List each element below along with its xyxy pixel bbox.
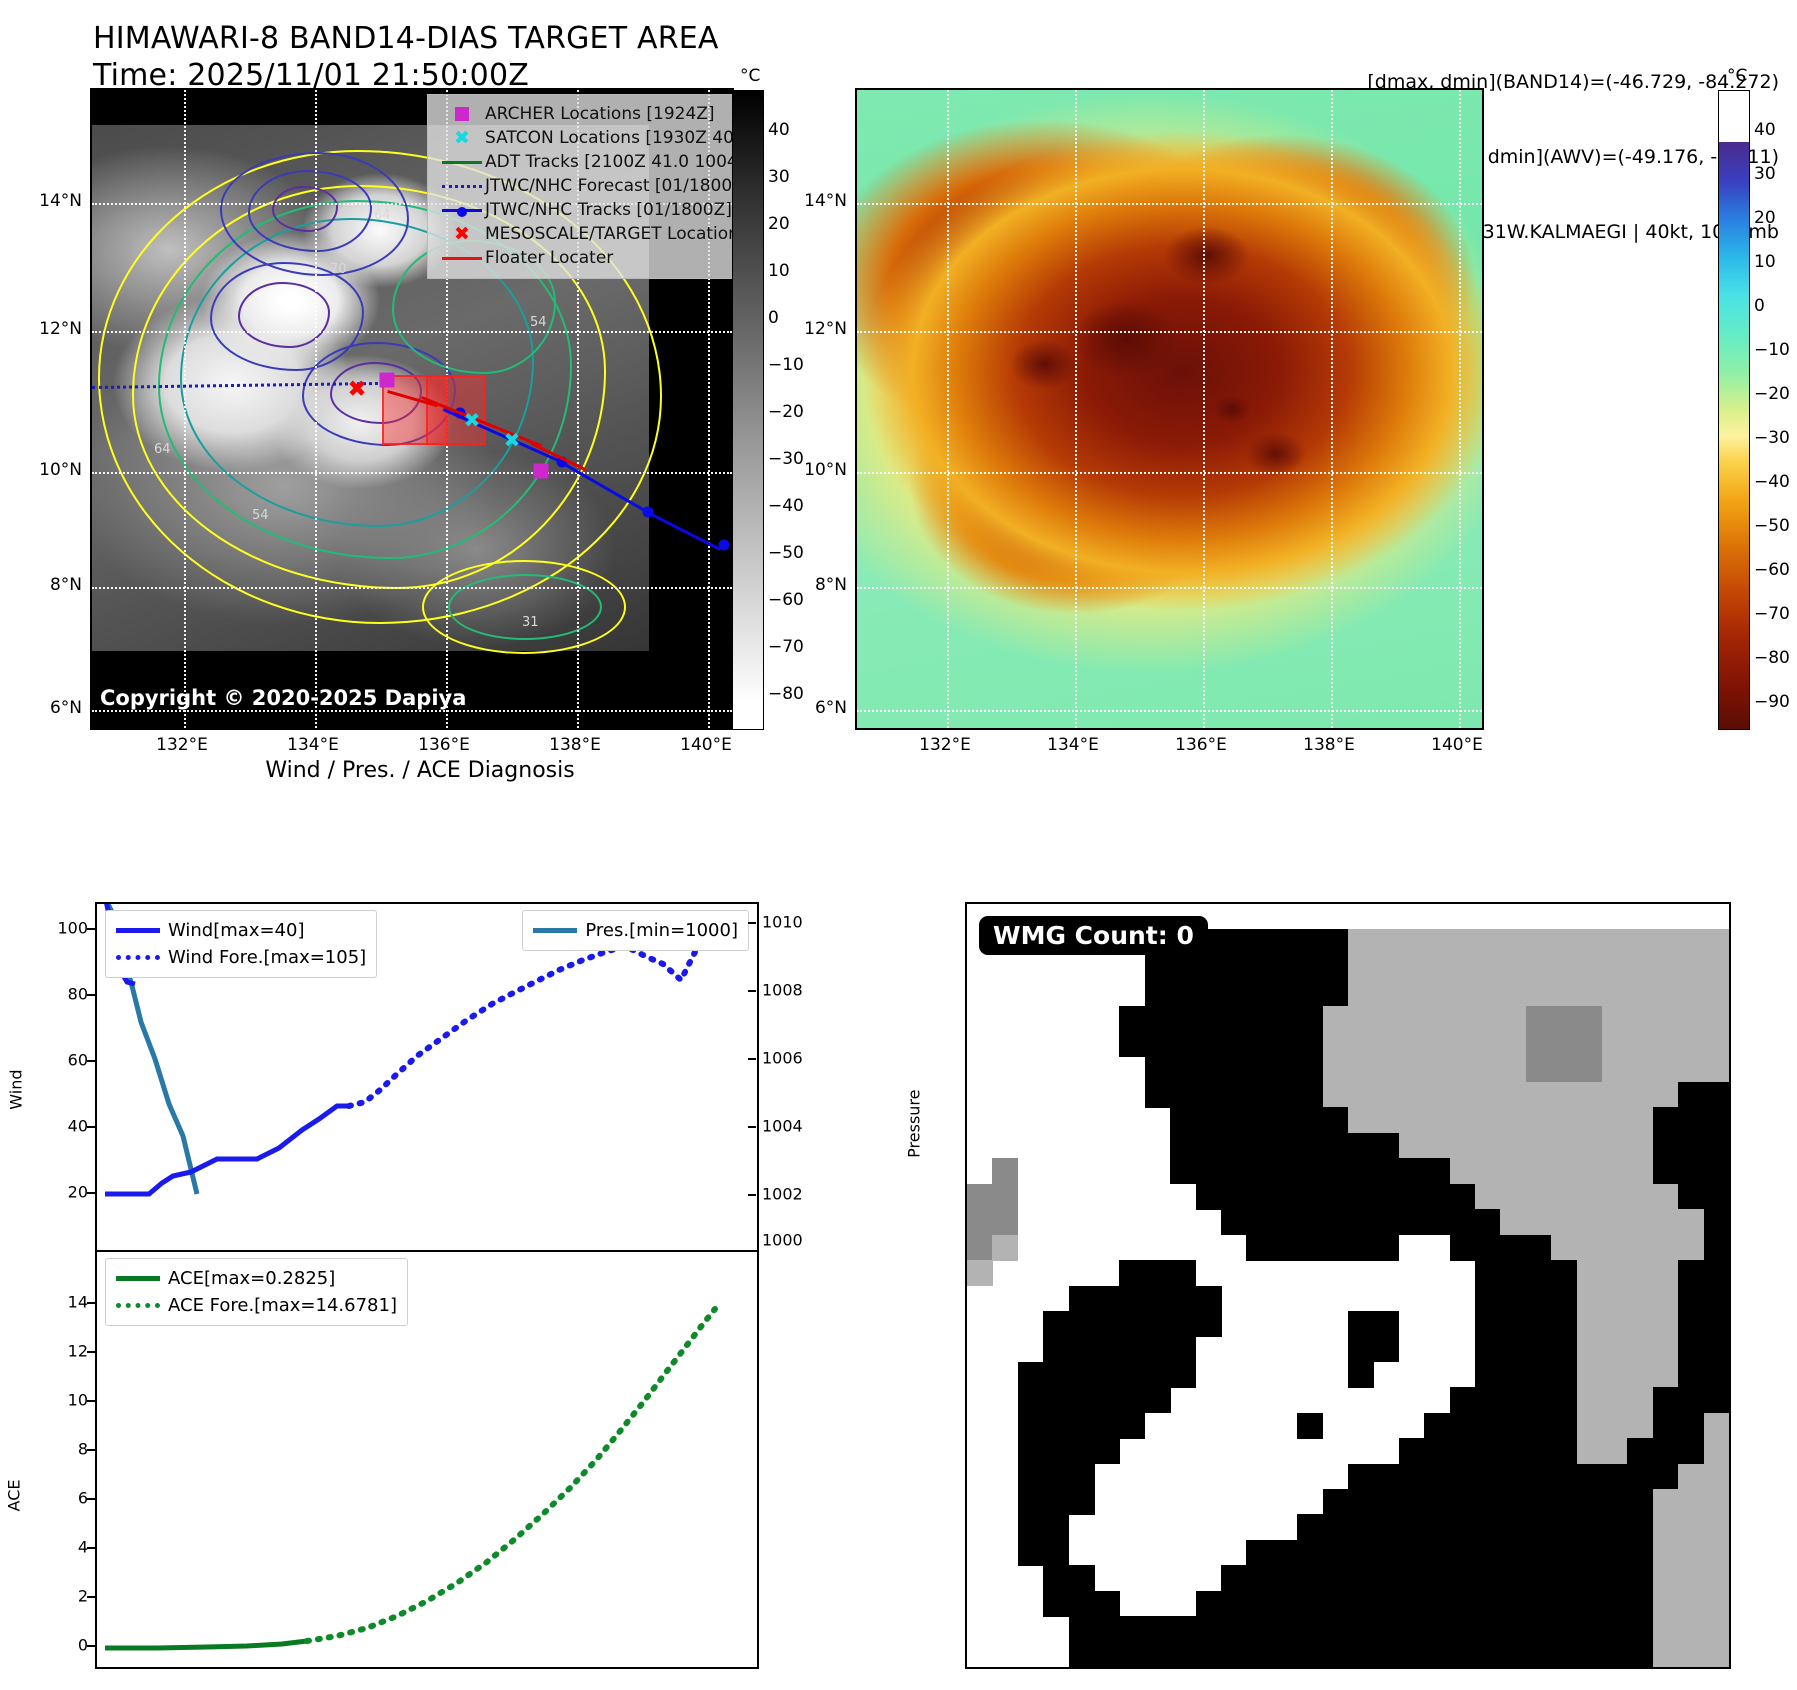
wmg-cell <box>1196 1286 1222 1312</box>
wmg-cell <box>1018 1514 1044 1540</box>
legend-label: Wind Fore.[max=105] <box>168 947 366 968</box>
wmg-cell <box>1704 1133 1730 1159</box>
lon-tick-label: 132°E <box>156 735 208 755</box>
wmg-cell <box>1678 1565 1704 1591</box>
wmg-cell <box>1373 1133 1399 1159</box>
wmg-cell <box>1450 1413 1476 1439</box>
wmg-cell <box>1653 1489 1679 1515</box>
wmg-cell <box>1450 1464 1476 1490</box>
wmg-cell <box>1246 1616 1272 1642</box>
wmg-cell <box>1551 1057 1577 1083</box>
wind-ytick: 60 <box>20 1051 88 1070</box>
wmg-cell <box>1145 1362 1171 1388</box>
dashboard-root: HIMAWARI-8 BAND14-DIAS TARGET AREATime: … <box>0 0 1797 1690</box>
wmg-cell <box>1475 1616 1501 1642</box>
wmg-cell <box>1500 929 1526 955</box>
wmg-cell <box>1399 1158 1425 1184</box>
wmg-cell <box>1373 1209 1399 1235</box>
wmg-cell <box>1043 1311 1069 1337</box>
wmg-cell <box>1272 1057 1298 1083</box>
wmg-cell <box>1424 980 1450 1006</box>
wmg-cell <box>1145 1006 1171 1032</box>
colorbar-tick: −50 <box>1754 516 1790 536</box>
wmg-cell <box>1551 1184 1577 1210</box>
wmg-cell <box>1094 1616 1120 1642</box>
wmg-cell <box>1170 1031 1196 1057</box>
wmg-cell <box>1373 1616 1399 1642</box>
wmg-cell <box>1602 1514 1628 1540</box>
wmg-cell <box>1069 1591 1095 1617</box>
wmg-cell <box>1221 1082 1247 1108</box>
wmg-cell <box>1018 1464 1044 1490</box>
wmg-cell <box>1170 1616 1196 1642</box>
wmg-cell <box>1602 1158 1628 1184</box>
wmg-cell <box>1043 1565 1069 1591</box>
contour-label: 64 <box>374 208 391 223</box>
wmg-cell <box>1246 929 1272 955</box>
wmg-cell <box>1627 1387 1653 1413</box>
wmg-cell <box>1119 1413 1145 1439</box>
wmg-cell <box>1627 1107 1653 1133</box>
tick-mark <box>87 1302 95 1304</box>
wmg-cell <box>1577 929 1603 955</box>
ir-band14-map[interactable]: 64 70 64 54 31 54 <box>90 88 734 730</box>
wmg-cell <box>1399 1514 1425 1540</box>
wmg-cell <box>1551 980 1577 1006</box>
ace-ytick: 12 <box>20 1342 88 1361</box>
wmg-cell <box>1704 1413 1730 1439</box>
tick-mark <box>87 928 95 930</box>
wmg-cell <box>1094 1413 1120 1439</box>
colorbar-tick: 30 <box>768 167 790 187</box>
wmg-cell <box>1018 1362 1044 1388</box>
wmg-cell <box>1678 1286 1704 1312</box>
wmg-cell <box>1500 1387 1526 1413</box>
wmg-mask-panel[interactable]: WMG Count: 0 <box>965 902 1731 1669</box>
wmg-cell <box>1704 1387 1730 1413</box>
wmg-cell <box>1602 1591 1628 1617</box>
wmg-cell <box>1069 1362 1095 1388</box>
wmg-cell <box>1551 929 1577 955</box>
wmg-cell <box>1602 1565 1628 1591</box>
wmg-cell <box>1424 1133 1450 1159</box>
wmg-cell <box>1602 1082 1628 1108</box>
wmg-cell <box>1399 1057 1425 1083</box>
wmg-cell <box>1170 1642 1196 1668</box>
wmg-cell <box>1704 1591 1730 1617</box>
wmg-cell <box>1196 980 1222 1006</box>
wmg-cell <box>1627 1591 1653 1617</box>
wmg-cell <box>1602 1031 1628 1057</box>
wmg-cell <box>1678 1591 1704 1617</box>
ace-ytick: 4 <box>20 1538 88 1557</box>
wmg-cell <box>1424 1209 1450 1235</box>
wmg-cell <box>1399 980 1425 1006</box>
gridline-longitude <box>315 90 317 728</box>
wmg-cell <box>1043 1514 1069 1540</box>
wmg-cell <box>1170 1057 1196 1083</box>
wmg-cell <box>1500 1413 1526 1439</box>
wmg-cell <box>1373 1540 1399 1566</box>
wmg-cell <box>1221 955 1247 981</box>
wmg-cell <box>1602 1057 1628 1083</box>
wmg-cell <box>1450 1158 1476 1184</box>
wmg-cell <box>1145 1031 1171 1057</box>
track-point <box>719 540 730 551</box>
wmg-cell <box>1246 1235 1272 1261</box>
wmg-cell <box>1653 1616 1679 1642</box>
wmg-cell <box>1272 1133 1298 1159</box>
wmg-cell <box>1551 1362 1577 1388</box>
wmg-cell <box>1094 1286 1120 1312</box>
wmg-cell <box>1424 955 1450 981</box>
legend-item-forecast: JTWC/NHC Forecast [01/1800Z] <box>439 174 734 198</box>
wmg-cell <box>1246 1642 1272 1668</box>
wmg-cell <box>1221 1591 1247 1617</box>
awv-enhanced-map[interactable] <box>855 88 1484 730</box>
wmg-cell <box>1678 1107 1704 1133</box>
wmg-cell <box>1526 1209 1552 1235</box>
wmg-cell <box>1500 1235 1526 1261</box>
wmg-cell <box>1475 1184 1501 1210</box>
wmg-cell <box>1551 1464 1577 1490</box>
wmg-cell <box>1526 1642 1552 1668</box>
colorbar-tick: 20 <box>768 214 790 234</box>
lon-tick-label: 136°E <box>418 735 470 755</box>
wmg-cell <box>1627 1616 1653 1642</box>
wmg-cell <box>1348 1514 1374 1540</box>
lon-tick-label: 132°E <box>919 735 971 755</box>
ace-ytick: 10 <box>20 1391 88 1410</box>
wmg-cell <box>1450 1006 1476 1032</box>
wmg-cell <box>1373 1464 1399 1490</box>
wmg-cell <box>1297 1413 1323 1439</box>
wmg-cell <box>1399 1489 1425 1515</box>
wmg-cell <box>1526 1438 1552 1464</box>
wmg-cell <box>1602 1286 1628 1312</box>
wmg-cell <box>1475 1464 1501 1490</box>
wmg-cell <box>1196 1057 1222 1083</box>
wmg-cell <box>1551 1031 1577 1057</box>
wmg-cell <box>1221 929 1247 955</box>
wmg-cell <box>967 1235 993 1261</box>
wmg-cell <box>1551 1489 1577 1515</box>
wmg-cell <box>1577 1438 1603 1464</box>
wmg-cell <box>1653 1133 1679 1159</box>
wmg-cell <box>1145 1616 1171 1642</box>
wmg-cell <box>1526 1107 1552 1133</box>
wmg-cell <box>1221 980 1247 1006</box>
wmg-cell <box>1196 955 1222 981</box>
wmg-cell <box>1475 1260 1501 1286</box>
wmg-cell <box>1475 1286 1501 1312</box>
wmg-cell <box>1424 1540 1450 1566</box>
pressure-ytick: 1004 <box>762 1117 852 1136</box>
wmg-cell <box>1323 1591 1349 1617</box>
wmg-cell <box>1424 1031 1450 1057</box>
colorbar-tick: −10 <box>1754 340 1790 360</box>
wmg-cell <box>1653 1107 1679 1133</box>
wmg-cell <box>1145 1286 1171 1312</box>
wmg-cell <box>1653 929 1679 955</box>
wmg-cell <box>1119 1031 1145 1057</box>
wmg-cell <box>1577 1286 1603 1312</box>
pressure-legend: Pres.[min=1000] <box>522 910 749 951</box>
wmg-cell <box>1399 1565 1425 1591</box>
lat-tick-label: 8°N <box>20 575 82 595</box>
wmg-cell <box>1475 1489 1501 1515</box>
pressure-ytick: 1008 <box>762 981 852 1000</box>
satcon-marker-icon: ✖ <box>439 129 485 148</box>
wmg-cell <box>1297 955 1323 981</box>
ace-ytick: 14 <box>20 1293 88 1312</box>
wmg-cell <box>967 1184 993 1210</box>
ace-ytick: 8 <box>20 1440 88 1459</box>
wmg-cell <box>1678 1133 1704 1159</box>
wmg-cell <box>1043 1489 1069 1515</box>
wmg-cell <box>1500 1031 1526 1057</box>
lat-tick-label: 14°N <box>785 191 847 211</box>
wmg-cell <box>1170 955 1196 981</box>
wmg-cell <box>1246 955 1272 981</box>
wmg-cell <box>1094 1642 1120 1668</box>
wmg-cell <box>1577 1006 1603 1032</box>
wmg-cell <box>1272 1107 1298 1133</box>
wmg-cell <box>1450 1031 1476 1057</box>
wmg-cell <box>1653 1184 1679 1210</box>
wmg-cell <box>1069 1413 1095 1439</box>
wmg-cell <box>1246 1107 1272 1133</box>
wmg-cell <box>1526 1311 1552 1337</box>
wmg-cell <box>1348 1311 1374 1337</box>
wmg-cell <box>1323 1642 1349 1668</box>
wmg-cell <box>1450 1540 1476 1566</box>
wmg-cell <box>1373 1184 1399 1210</box>
wmg-cell <box>1551 1082 1577 1108</box>
legend-label: Wind[max=40] <box>168 920 305 941</box>
wmg-cell <box>1297 1006 1323 1032</box>
wmg-cell <box>1272 1642 1298 1668</box>
wmg-cell <box>1450 1209 1476 1235</box>
title-line-1: HIMAWARI-8 BAND14-DIAS TARGET AREA <box>93 21 719 56</box>
wmg-cell <box>1627 1489 1653 1515</box>
wind-pressure-chart[interactable]: Wind[max=40] Wind Fore.[max=105] Pres.[m… <box>95 902 759 1254</box>
wmg-cell <box>1221 1616 1247 1642</box>
wmg-cell <box>1145 1642 1171 1668</box>
colorbar-tick: −40 <box>768 496 804 516</box>
wmg-cell <box>1500 1286 1526 1312</box>
wmg-cell <box>1551 1540 1577 1566</box>
wmg-cell <box>1399 1006 1425 1032</box>
tick-mark <box>748 1126 756 1128</box>
wmg-cell <box>1221 1565 1247 1591</box>
wmg-cell <box>1653 1209 1679 1235</box>
wmg-cell <box>1094 1438 1120 1464</box>
wmg-cell <box>1475 1642 1501 1668</box>
wmg-cell <box>1577 1413 1603 1439</box>
wmg-cell <box>1297 1642 1323 1668</box>
awv-colorbar-title: °C <box>1727 66 1747 86</box>
legend-item-satcon: ✖ SATCON Locations [1930Z 40 1001] <box>439 126 734 150</box>
wmg-cell <box>1704 955 1730 981</box>
wmg-cell <box>1145 1260 1171 1286</box>
wmg-cell <box>1399 1133 1425 1159</box>
wmg-cell <box>1551 1133 1577 1159</box>
lat-tick-label: 10°N <box>20 460 82 480</box>
wmg-cell <box>1348 1006 1374 1032</box>
wmg-cell <box>1450 1514 1476 1540</box>
colorbar-tick: −60 <box>1754 560 1790 580</box>
wmg-cell <box>1500 1464 1526 1490</box>
wmg-cell <box>1450 980 1476 1006</box>
wmg-cell <box>1602 1006 1628 1032</box>
wmg-cell <box>1526 1006 1552 1032</box>
wmg-cell <box>1348 955 1374 981</box>
wmg-cell <box>1526 1565 1552 1591</box>
legend-item-ace-forecast: ACE Fore.[max=14.6781] <box>116 1292 397 1319</box>
archer-location-marker <box>534 464 549 479</box>
wmg-cell <box>1653 1235 1679 1261</box>
wmg-cell <box>1627 980 1653 1006</box>
wmg-cell <box>1424 1565 1450 1591</box>
wmg-cell <box>1704 1489 1730 1515</box>
wmg-cell <box>1475 1413 1501 1439</box>
wmg-cell <box>1069 1387 1095 1413</box>
wmg-cell <box>1297 1031 1323 1057</box>
colorbar-tick: −40 <box>1754 472 1790 492</box>
wmg-cell <box>1704 1006 1730 1032</box>
wmg-cell <box>1602 929 1628 955</box>
colorbar-tick: 30 <box>1754 164 1776 184</box>
ace-chart[interactable]: ACE[max=0.2825] ACE Fore.[max=14.6781] <box>95 1250 759 1669</box>
wmg-cell <box>1653 1286 1679 1312</box>
wmg-cell <box>1602 1107 1628 1133</box>
wmg-cell <box>1272 1209 1298 1235</box>
wmg-cell <box>1069 1464 1095 1490</box>
wmg-cell <box>1297 1107 1323 1133</box>
wmg-cell <box>1653 1413 1679 1439</box>
wmg-cell <box>1119 1336 1145 1362</box>
wmg-cell <box>1475 1514 1501 1540</box>
wmg-cell <box>1094 1387 1120 1413</box>
wmg-cell <box>992 1209 1018 1235</box>
wmg-cell <box>1653 1362 1679 1388</box>
legend-label: MESOSCALE/TARGET Location <box>485 224 734 244</box>
wmg-cell <box>1627 1413 1653 1439</box>
wmg-cell <box>1577 1082 1603 1108</box>
wmg-cell <box>1323 1514 1349 1540</box>
legend-item-archer: ARCHER Locations [1924Z] <box>439 102 734 126</box>
wmg-cell <box>1551 955 1577 981</box>
wmg-cell <box>1551 1413 1577 1439</box>
wmg-cell <box>1323 1489 1349 1515</box>
wmg-cell <box>1475 1387 1501 1413</box>
legend-item-floater: Floater Locater <box>439 246 734 270</box>
wmg-cell <box>1678 1158 1704 1184</box>
legend-label: ADT Tracks [2100Z 41.0 1004.6] <box>485 152 734 172</box>
wmg-cell <box>1069 1489 1095 1515</box>
wmg-cell <box>1323 1006 1349 1032</box>
wmg-cell <box>1627 1184 1653 1210</box>
wmg-cell <box>1475 1438 1501 1464</box>
archer-marker-icon <box>439 107 485 121</box>
wmg-cell <box>1551 1260 1577 1286</box>
wmg-cell <box>1348 1591 1374 1617</box>
wmg-cell <box>1399 1082 1425 1108</box>
wmg-cell <box>1475 1565 1501 1591</box>
wmg-cell <box>1272 980 1298 1006</box>
wmg-cell <box>1399 1642 1425 1668</box>
wmg-cell <box>1577 1158 1603 1184</box>
wmg-cell <box>1297 1184 1323 1210</box>
map-legend: ARCHER Locations [1924Z] ✖ SATCON Locati… <box>427 94 734 279</box>
wmg-cell <box>1678 1540 1704 1566</box>
wmg-cell <box>1602 1184 1628 1210</box>
wmg-cell <box>1348 929 1374 955</box>
wmg-cell <box>1399 1438 1425 1464</box>
wmg-cell <box>1704 1565 1730 1591</box>
wmg-cell <box>1018 1438 1044 1464</box>
colorbar-tick: −90 <box>1754 692 1790 712</box>
wmg-cell <box>1526 1413 1552 1439</box>
wmg-cell <box>1399 1209 1425 1235</box>
wmg-cell <box>1323 1082 1349 1108</box>
wmg-cell <box>1399 1464 1425 1490</box>
wmg-cell <box>1196 1082 1222 1108</box>
colorbar-tick: −10 <box>768 355 804 375</box>
wmg-cell <box>1526 1184 1552 1210</box>
wmg-cell <box>1424 1642 1450 1668</box>
wmg-cell <box>1348 1057 1374 1083</box>
lon-tick-label: 138°E <box>1303 735 1355 755</box>
wmg-cell <box>1399 1031 1425 1057</box>
wmg-cell <box>1500 1082 1526 1108</box>
tick-mark <box>87 1547 95 1549</box>
wmg-cell <box>1500 1006 1526 1032</box>
wmg-cell <box>1678 1464 1704 1490</box>
wmg-cell <box>1424 1082 1450 1108</box>
wmg-cell <box>1221 1133 1247 1159</box>
copyright-notice: Copyright © 2020-2025 Dapiya <box>100 686 466 710</box>
wmg-cell <box>1297 1082 1323 1108</box>
wmg-cell <box>1170 1336 1196 1362</box>
wmg-cell <box>1373 1158 1399 1184</box>
wmg-cell <box>1424 1616 1450 1642</box>
wmg-cell <box>1399 929 1425 955</box>
track-point <box>643 507 654 518</box>
legend-label: JTWC/NHC Tracks [01/1800Z] <box>485 200 732 220</box>
wmg-cell <box>1577 1260 1603 1286</box>
wmg-cell <box>1323 1616 1349 1642</box>
wmg-cell <box>1500 1133 1526 1159</box>
wmg-cell <box>1221 1184 1247 1210</box>
wmg-cell <box>1500 1107 1526 1133</box>
wmg-cell <box>1424 1413 1450 1439</box>
wmg-cell <box>1551 1006 1577 1032</box>
wmg-cell <box>1551 1235 1577 1261</box>
wmg-cell <box>1627 1286 1653 1312</box>
lat-tick-label: 6°N <box>785 698 847 718</box>
wmg-cell <box>1196 1031 1222 1057</box>
wmg-cell <box>1246 1057 1272 1083</box>
wmg-cell <box>1704 1514 1730 1540</box>
wmg-cell <box>1170 1133 1196 1159</box>
wind-series <box>105 1106 349 1194</box>
wmg-cell <box>1704 1336 1730 1362</box>
colorbar-tick: −30 <box>1754 428 1790 448</box>
wmg-cell <box>1475 1082 1501 1108</box>
wmg-cell <box>1602 1336 1628 1362</box>
